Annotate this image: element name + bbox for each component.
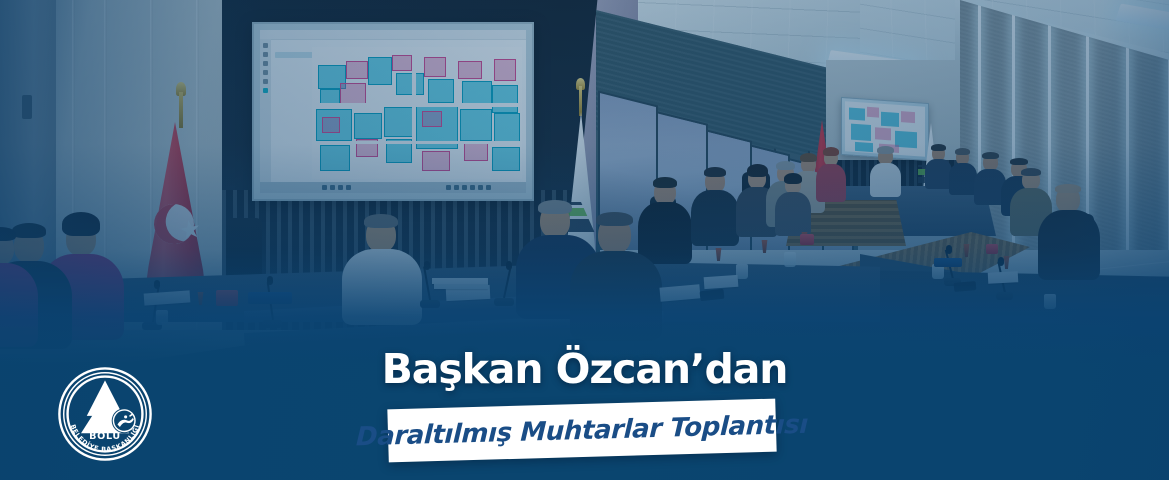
projection-screen [252, 22, 534, 201]
water-glass [1044, 294, 1056, 309]
water-glass [784, 252, 796, 267]
news-hero-banner: BOLU BELEDİYE BAŞKANLIĞI Başkan Özcan’da… [0, 0, 1169, 480]
red-desk-object [216, 290, 238, 306]
subtitle-banner: Daraltılmış Muhtarlar Toplantısı [387, 399, 776, 463]
microphone-icon [494, 262, 514, 306]
cadastral-map-image [312, 47, 522, 179]
water-glass [736, 264, 748, 279]
document-stack [434, 284, 488, 289]
svg-text:BOLU: BOLU [89, 431, 121, 442]
document-sheet [988, 271, 1019, 284]
red-desk-object [800, 234, 814, 245]
turkish-flag-icon [136, 92, 214, 307]
subtitle-text: Daraltılmış Muhtarlar Toplantısı [355, 409, 808, 452]
page-title: Başkan Özcan’dan [0, 349, 1169, 390]
smartphone [954, 281, 977, 292]
water-glass [156, 310, 168, 325]
blue-desk-object [934, 258, 962, 267]
chair [226, 218, 262, 280]
red-desk-object [986, 244, 998, 254]
blue-desk-object [248, 292, 292, 304]
document-sheet [704, 275, 739, 289]
